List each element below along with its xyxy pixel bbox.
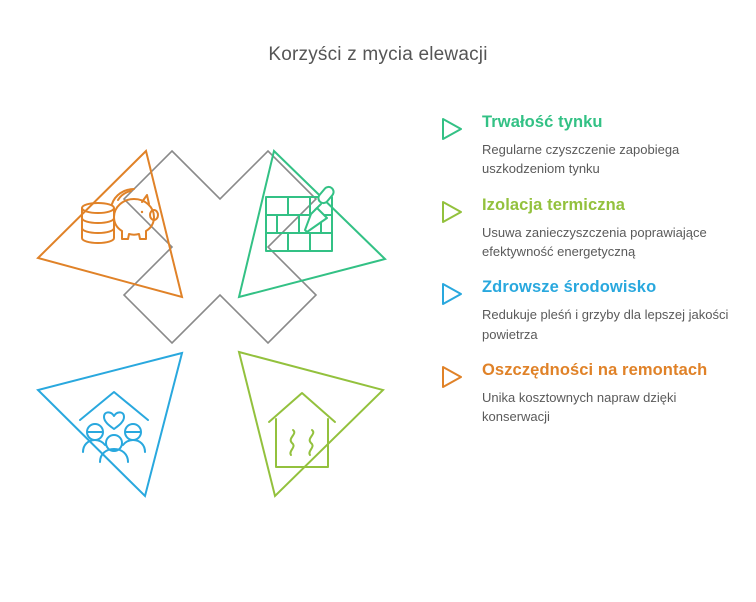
segment-savings[interactable] [38,151,182,297]
benefit-item-insulation[interactable]: Izolacja termiczna Usuwa zanieczyszczeni… [437,195,737,262]
benefit-item-health[interactable]: Zdrowsze środowisko Redukuje pleśń i grz… [437,277,737,344]
benefit-heading: Izolacja termiczna [482,195,737,216]
triangle-right-icon [439,116,465,142]
benefits-diagram [10,120,430,530]
segment-plaster[interactable] [239,151,385,297]
benefit-item-savings[interactable]: Oszczędności na remontach Unika kosztown… [437,360,737,427]
benefit-heading: Trwałość tynku [482,112,737,133]
triangle-right-icon [439,364,465,390]
benefit-body: Redukuje pleśń i grzyby dla lepszej jako… [482,305,732,343]
segment-insulation[interactable] [239,352,383,496]
triangle-right-icon [439,199,465,225]
benefit-item-plaster[interactable]: Trwałość tynku Regularne czyszczenie zap… [437,112,737,179]
house-heat-waves-icon [269,393,335,467]
benefit-body: Regularne czyszczenie zapobiega uszkodze… [482,140,732,178]
brick-wall-trowel-icon [266,185,336,251]
benefit-heading: Zdrowsze środowisko [482,277,737,298]
triangle-right-icon [439,281,465,307]
page-title: Korzyści z mycia elewacji [0,44,756,66]
benefit-body: Usuwa zanieczyszczenia poprawiające efek… [482,223,732,261]
benefits-list: Trwałość tynku Regularne czyszczenie zap… [437,112,737,442]
family-house-heart-icon [80,392,148,462]
benefit-body: Unika kosztownych napraw dzięki konserwa… [482,388,732,426]
piggy-bank-coins-icon [82,189,158,243]
infographic-page: Korzyści z mycia elewacji [0,0,756,602]
benefit-heading: Oszczędności na remontach [482,360,737,381]
segment-health[interactable] [38,353,182,496]
